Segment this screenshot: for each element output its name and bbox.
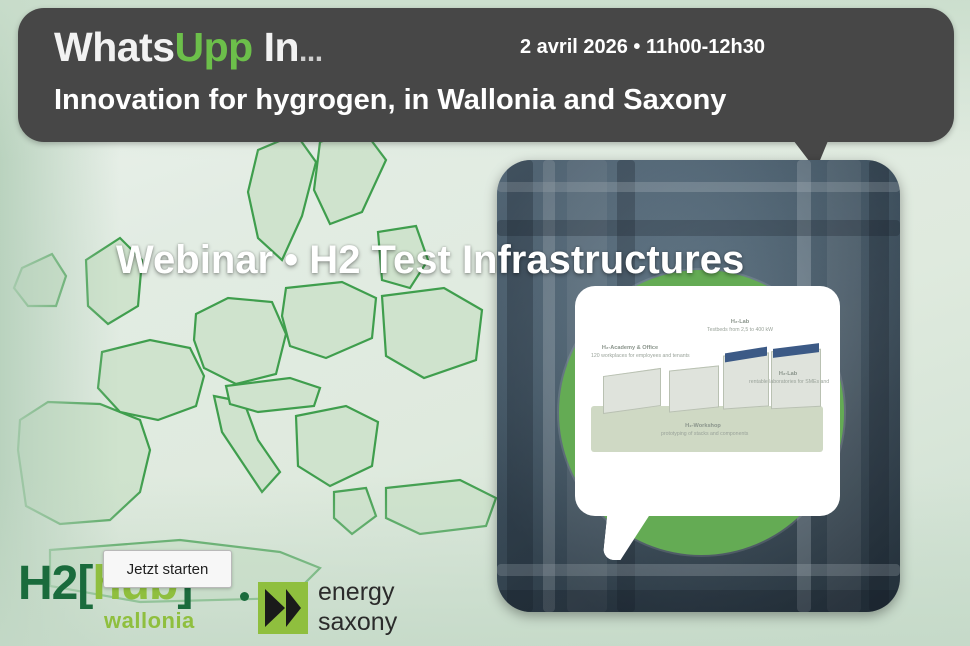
energy-saxony-mark-icon xyxy=(258,582,308,634)
event-datetime: 2 avril 2026 • 11h00-12h30 xyxy=(520,36,765,59)
render-label: H₂-Workshop prototyping of stacks and co… xyxy=(661,422,745,438)
series-title: WhatsUpp In... xyxy=(54,24,323,71)
event-banner: WhatsUpp In... 2 avril 2026 • 11h00-12h3… xyxy=(18,8,954,142)
render-label: H₂-Lab Testbeds from 2,5 to 400 kW xyxy=(707,318,773,334)
energy-saxony-wordmark: energy saxony xyxy=(318,578,397,637)
banner-subtitle: Innovation for hygrogen, in Wallonia and… xyxy=(54,84,726,117)
render-label-title: H₂-Workshop xyxy=(685,423,721,429)
series-title-whats: Whats xyxy=(54,24,175,70)
start-button[interactable]: Jetzt starten xyxy=(103,550,232,588)
banner-top-row: WhatsUpp In... 2 avril 2026 • 11h00-12h3… xyxy=(54,24,930,80)
render-label: H₂-Lab rentable laboratories for SMEs an… xyxy=(749,370,827,386)
render-label-text: 120 workplaces for employees and tenants xyxy=(591,353,690,359)
series-title-in: In xyxy=(253,24,299,70)
render-label-text: prototyping of stacks and components xyxy=(661,431,748,437)
campus-render: H₂-Lab Testbeds from 2,5 to 400 kW H₂-Ac… xyxy=(585,310,830,480)
render-label-text: rentable laboratories for SMEs and start… xyxy=(749,379,830,385)
render-building-workshop xyxy=(669,365,719,412)
render-label-title: H₂-Lab xyxy=(731,319,749,325)
render-label-text: Testbeds from 2,5 to 400 kW xyxy=(707,327,773,333)
h2hub-region: wallonia xyxy=(104,608,195,634)
energy-saxony-line2: saxony xyxy=(318,608,397,636)
series-title-ellipsis: ... xyxy=(299,35,323,68)
energy-saxony-line1: energy xyxy=(318,578,394,606)
logo-separator-dot xyxy=(240,592,249,601)
logo-energy-saxony: energy saxony xyxy=(258,578,428,640)
render-label-title: H₂-Academy & Office xyxy=(602,345,658,351)
render-building-academy xyxy=(603,368,661,414)
render-label-title: H₂-Lab xyxy=(779,371,797,377)
series-title-upp: Upp xyxy=(175,24,253,70)
page-title: Webinar • H2 Test Infrastructures xyxy=(0,238,970,283)
h2hub-h2: H2 xyxy=(18,557,77,610)
render-label: H₂-Academy & Office 120 workplaces for e… xyxy=(591,344,669,360)
facility-photo: H₂-Lab Testbeds from 2,5 to 400 kW H₂-Ac… xyxy=(497,160,900,612)
promo-poster: WhatsUpp In... 2 avril 2026 • 11h00-12h3… xyxy=(0,0,970,646)
white-speech-bubble-tail xyxy=(602,512,651,560)
h2hub-bracket-open: [ xyxy=(77,557,92,610)
